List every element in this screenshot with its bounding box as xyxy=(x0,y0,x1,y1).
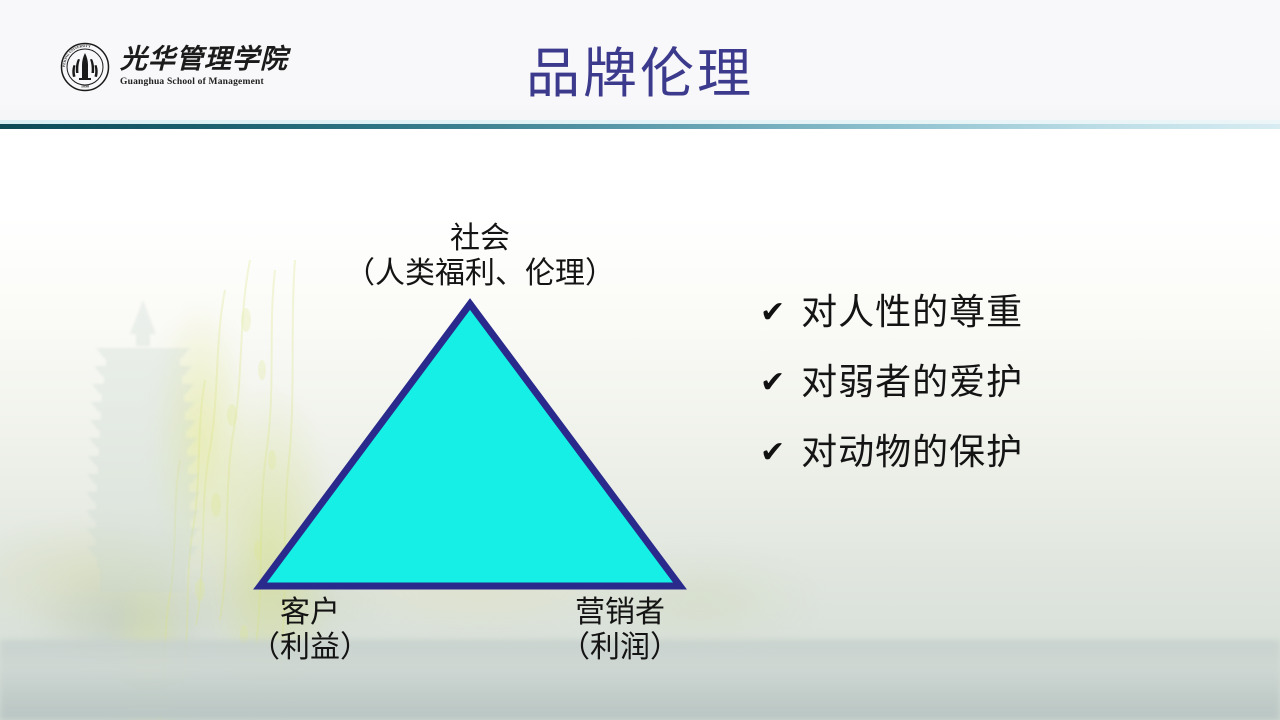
triangle-shape-icon xyxy=(240,290,700,600)
label-society-line2: （人类福利、伦理） xyxy=(290,257,670,292)
list-item: ✔ 对动物的保护 xyxy=(760,434,1180,472)
list-item-label: 对弱者的爱护 xyxy=(801,364,1023,402)
check-icon: ✔ xyxy=(760,298,785,328)
label-marketer-line1: 营销者 xyxy=(575,595,665,630)
label-marketer-line2: （利润） xyxy=(500,631,740,666)
slide-header: PEKING UNIVERSITY 1898 光华管理学院 Guanghua S… xyxy=(0,0,1280,124)
label-customer-line1: 客户 xyxy=(280,595,340,630)
header-divider xyxy=(0,124,1280,129)
stakeholder-triangle xyxy=(240,290,700,600)
ethics-bullet-list: ✔ 对人性的尊重 ✔ 对弱者的爱护 ✔ 对动物的保护 xyxy=(760,294,1180,503)
list-item-label: 对人性的尊重 xyxy=(801,294,1023,332)
label-customer: 客户 （利益） xyxy=(210,596,410,666)
label-marketer: 营销者 （利润） xyxy=(500,596,740,666)
pagoda-watermark xyxy=(78,300,208,600)
label-society-line1: 社会 xyxy=(450,221,510,256)
list-item: ✔ 对人性的尊重 xyxy=(760,294,1180,332)
check-icon: ✔ xyxy=(760,438,785,468)
check-icon: ✔ xyxy=(760,368,785,398)
label-customer-line2: （利益） xyxy=(210,631,410,666)
page-title: 品牌伦理 xyxy=(0,47,1280,101)
list-item-label: 对动物的保护 xyxy=(801,434,1023,472)
list-item: ✔ 对弱者的爱护 xyxy=(760,364,1180,402)
label-society: 社会 （人类福利、伦理） xyxy=(290,222,670,292)
slide-canvas: PEKING UNIVERSITY 1898 光华管理学院 Guanghua S… xyxy=(0,0,1280,720)
